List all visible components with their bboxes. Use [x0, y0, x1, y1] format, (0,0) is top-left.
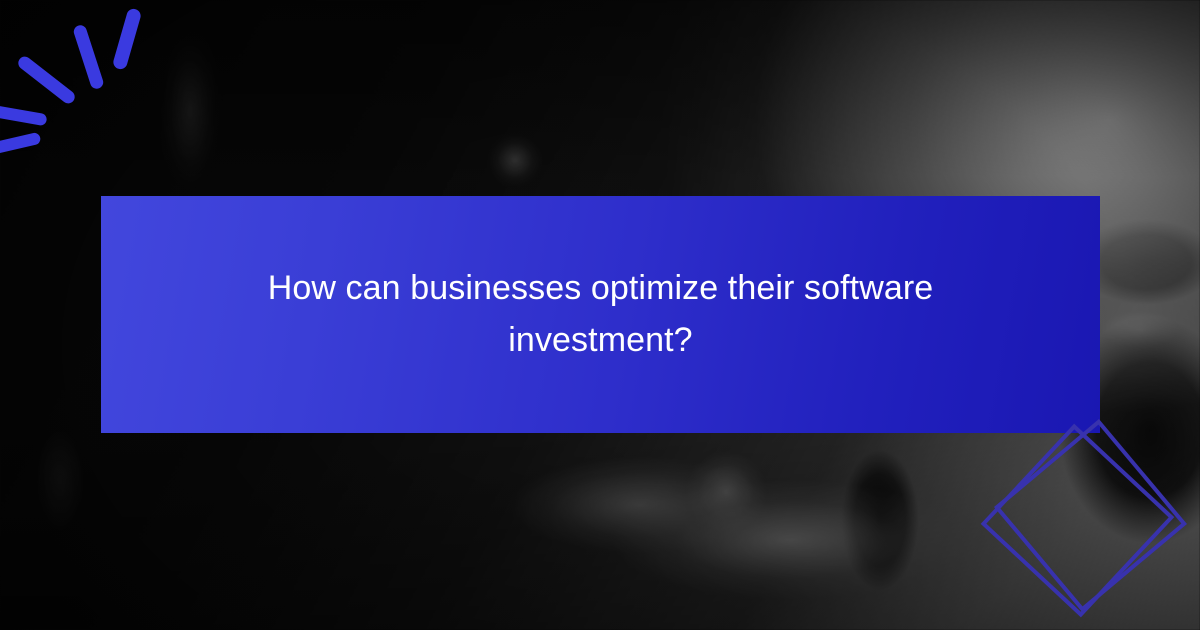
- question-banner: How can businesses optimize their softwa…: [101, 196, 1100, 433]
- starburst-ray-4: [0, 104, 48, 127]
- starburst-rays-icon: [0, 0, 200, 160]
- starburst-ray-1: [112, 7, 143, 70]
- poster-canvas: How can businesses optimize their softwa…: [0, 0, 1200, 630]
- banner-title: How can businesses optimize their softwa…: [216, 263, 986, 366]
- starburst-ray-5: [0, 132, 42, 159]
- starburst-ray-3: [16, 54, 78, 106]
- starburst-ray-2: [72, 24, 105, 91]
